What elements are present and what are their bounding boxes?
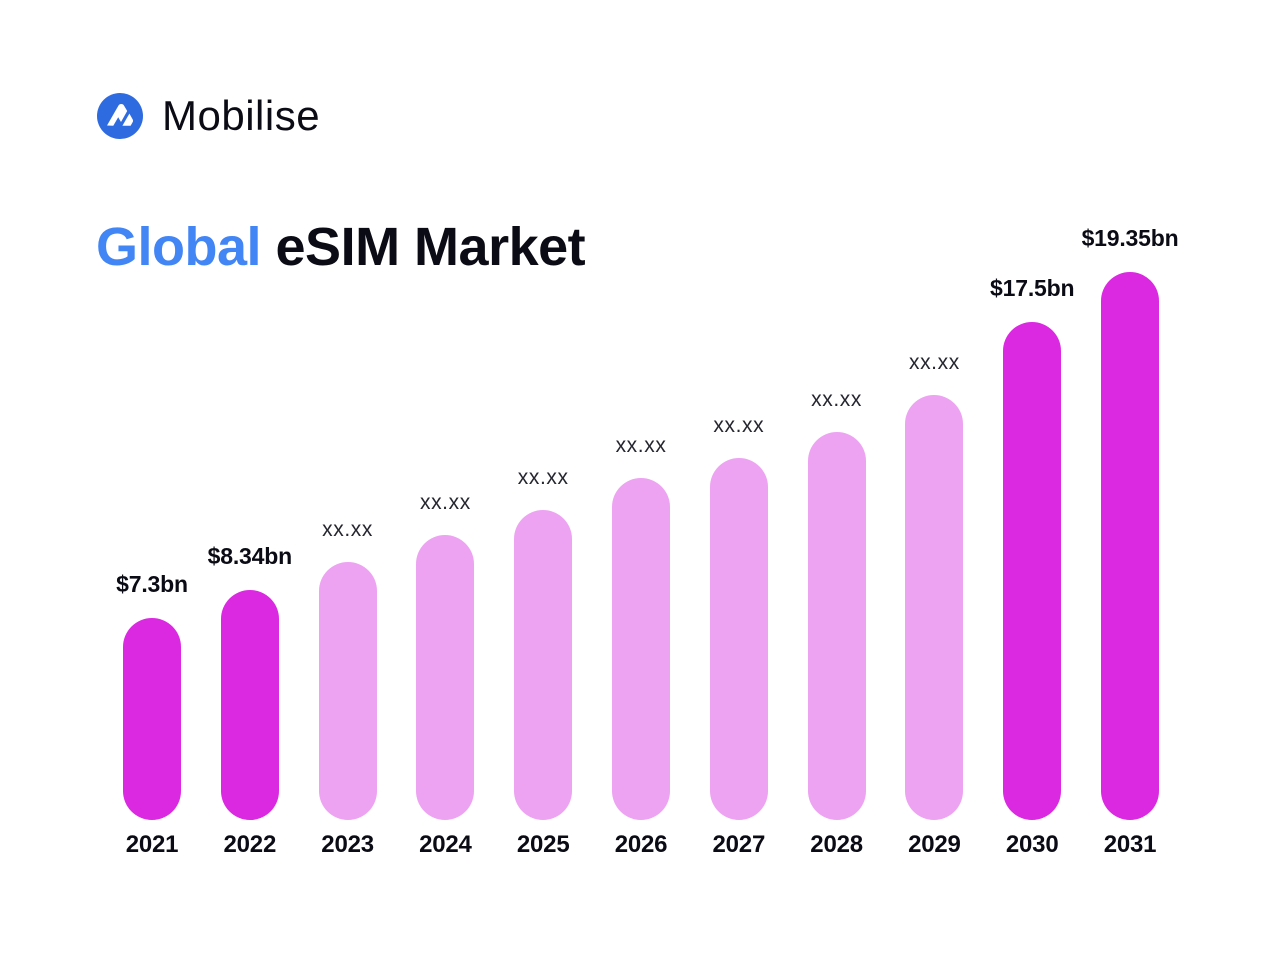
bar-2029[interactable] [905,395,963,820]
bar-group-2030: $17.5bn2030 [1003,322,1061,820]
value-label-2024: xx.xx [420,492,471,513]
bar-2024[interactable] [416,535,474,820]
value-label-2022: $8.34bn [208,545,292,568]
brand-logo: Mobilise [96,88,320,144]
bar-2026[interactable] [612,478,670,820]
bar-2025[interactable] [514,510,572,820]
year-label-2026: 2026 [615,833,668,857]
value-label-2026: xx.xx [616,435,667,456]
year-label-2031: 2031 [1104,833,1157,857]
year-label-2023: 2023 [321,833,374,857]
value-label-2031: $19.35bn [1082,227,1179,250]
bar-2030[interactable] [1003,322,1061,820]
year-label-2022: 2022 [224,833,277,857]
value-label-2028: xx.xx [811,389,862,410]
year-label-2029: 2029 [908,833,961,857]
brand-name: Mobilise [162,95,320,137]
bar-group-2027: xx.xx2027 [710,458,768,820]
value-label-2025: xx.xx [518,467,569,488]
value-label-2030: $17.5bn [990,277,1074,300]
bar-chart: $7.3bn2021$8.34bn2022xx.xx2023xx.xx2024x… [96,180,1196,880]
year-label-2024: 2024 [419,833,472,857]
bar-2022[interactable] [221,590,279,820]
bar-2023[interactable] [319,562,377,820]
bar-2027[interactable] [710,458,768,820]
bar-group-2024: xx.xx2024 [416,535,474,820]
bar-group-2021: $7.3bn2021 [123,618,181,820]
bar-2021[interactable] [123,618,181,820]
bar-group-2022: $8.34bn2022 [221,590,279,820]
bar-group-2023: xx.xx2023 [319,562,377,820]
bar-group-2029: xx.xx2029 [905,395,963,820]
mobilise-wave-logo-icon [96,92,144,140]
year-label-2028: 2028 [810,833,863,857]
bar-2031[interactable] [1101,272,1159,820]
value-label-2023: xx.xx [322,519,373,540]
year-label-2030: 2030 [1006,833,1059,857]
value-label-2029: xx.xx [909,352,960,373]
bar-group-2031: $19.35bn2031 [1101,272,1159,820]
year-label-2021: 2021 [126,833,179,857]
bar-group-2028: xx.xx2028 [808,432,866,820]
bar-group-2025: xx.xx2025 [514,510,572,820]
value-label-2027: xx.xx [713,415,764,436]
year-label-2025: 2025 [517,833,570,857]
bar-2028[interactable] [808,432,866,820]
bar-group-2026: xx.xx2026 [612,478,670,820]
year-label-2027: 2027 [713,833,766,857]
value-label-2021: $7.3bn [116,573,188,596]
